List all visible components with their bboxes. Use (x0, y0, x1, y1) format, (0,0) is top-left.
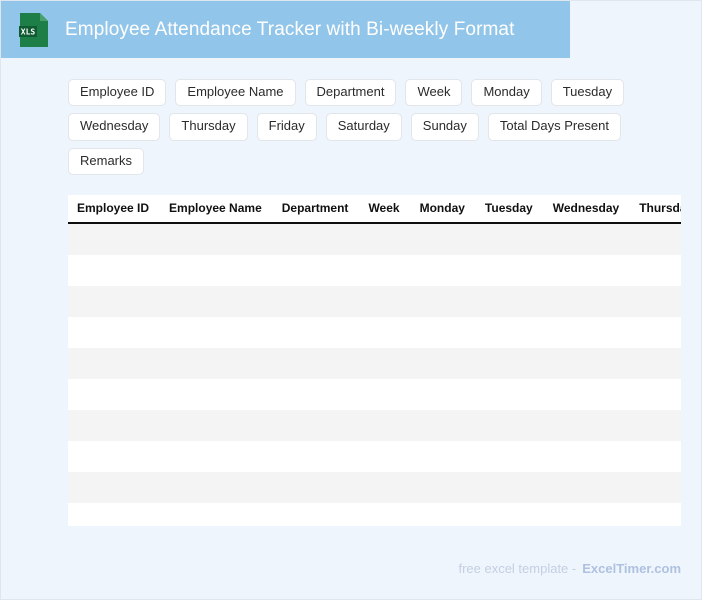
table-cell[interactable] (410, 223, 475, 255)
table-row[interactable] (68, 410, 681, 441)
table-cell[interactable] (410, 255, 475, 286)
table-cell[interactable] (272, 410, 359, 441)
table-cell[interactable] (272, 441, 359, 472)
field-chip[interactable]: Remarks (68, 148, 144, 175)
table-row[interactable] (68, 317, 681, 348)
table-cell[interactable] (358, 255, 409, 286)
table-cell[interactable] (272, 286, 359, 317)
attendance-table: Employee IDEmployee NameDepartmentWeekMo… (68, 195, 681, 526)
table-cell[interactable] (68, 286, 159, 317)
table-cell[interactable] (475, 223, 543, 255)
table-cell[interactable] (629, 410, 681, 441)
table-cell[interactable] (410, 379, 475, 410)
field-chip[interactable]: Employee ID (68, 79, 166, 106)
table-cell[interactable] (272, 255, 359, 286)
field-chip[interactable]: Saturday (326, 113, 402, 140)
table-cell[interactable] (543, 255, 629, 286)
field-chip[interactable]: Total Days Present (488, 113, 621, 140)
footer-brand-link[interactable]: ExcelTimer.com (582, 561, 681, 576)
table-cell[interactable] (68, 441, 159, 472)
column-header[interactable]: Wednesday (543, 195, 629, 223)
table-cell[interactable] (272, 472, 359, 503)
table-cell[interactable] (272, 379, 359, 410)
table-cell[interactable] (475, 503, 543, 526)
table-cell[interactable] (272, 503, 359, 526)
table-cell[interactable] (410, 410, 475, 441)
table-cell[interactable] (358, 472, 409, 503)
table-cell[interactable] (629, 223, 681, 255)
field-chip[interactable]: Thursday (169, 113, 247, 140)
table-row[interactable] (68, 286, 681, 317)
table-row[interactable] (68, 503, 681, 526)
table-cell[interactable] (410, 348, 475, 379)
table-cell[interactable] (159, 348, 272, 379)
table-cell[interactable] (475, 255, 543, 286)
table-cell[interactable] (629, 503, 681, 526)
column-header[interactable]: Department (272, 195, 359, 223)
table-cell[interactable] (159, 410, 272, 441)
table-cell[interactable] (543, 379, 629, 410)
table-cell[interactable] (159, 472, 272, 503)
table-cell[interactable] (159, 286, 272, 317)
field-chip[interactable]: Wednesday (68, 113, 160, 140)
table-cell[interactable] (543, 317, 629, 348)
table-cell[interactable] (358, 441, 409, 472)
field-chip-list: Employee IDEmployee NameDepartmentWeekMo… (68, 79, 643, 175)
page-title: Employee Attendance Tracker with Bi-week… (65, 20, 514, 39)
table-cell[interactable] (543, 503, 629, 526)
table-cell[interactable] (543, 286, 629, 317)
table-cell[interactable] (629, 379, 681, 410)
table-cell[interactable] (475, 317, 543, 348)
field-chip[interactable]: Friday (257, 113, 317, 140)
table-cell[interactable] (358, 503, 409, 526)
table-cell[interactable] (410, 317, 475, 348)
xls-file-icon: XLS (19, 12, 49, 48)
page-header: XLS Employee Attendance Tracker with Bi-… (1, 1, 570, 58)
table-cell[interactable] (68, 255, 159, 286)
table-cell[interactable] (410, 441, 475, 472)
table-cell[interactable] (159, 317, 272, 348)
table-row[interactable] (68, 472, 681, 503)
column-header[interactable]: Employee Name (159, 195, 272, 223)
field-chip[interactable]: Monday (471, 79, 541, 106)
table-cell[interactable] (68, 379, 159, 410)
page-root: XLS Employee Attendance Tracker with Bi-… (0, 0, 702, 600)
table-cell[interactable] (159, 255, 272, 286)
table-cell[interactable] (159, 441, 272, 472)
column-header[interactable]: Thursday (629, 195, 681, 223)
table-cell[interactable] (543, 223, 629, 255)
table-cell[interactable] (629, 286, 681, 317)
table-cell[interactable] (358, 348, 409, 379)
table-cell[interactable] (475, 441, 543, 472)
table-cell[interactable] (358, 223, 409, 255)
table-cell[interactable] (629, 317, 681, 348)
column-header[interactable]: Week (358, 195, 409, 223)
table-cell[interactable] (543, 410, 629, 441)
attendance-table-container[interactable]: Employee IDEmployee NameDepartmentWeekMo… (68, 195, 681, 526)
table-cell[interactable] (272, 348, 359, 379)
table-cell[interactable] (475, 286, 543, 317)
table-header: Employee IDEmployee NameDepartmentWeekMo… (68, 195, 681, 223)
table-cell[interactable] (68, 223, 159, 255)
table-cell[interactable] (629, 348, 681, 379)
table-cell[interactable] (629, 472, 681, 503)
table-cell[interactable] (68, 348, 159, 379)
column-header[interactable]: Monday (410, 195, 475, 223)
table-cell[interactable] (358, 286, 409, 317)
table-row[interactable] (68, 348, 681, 379)
table-row[interactable] (68, 441, 681, 472)
footer-lead-text: free excel template - (458, 561, 576, 576)
field-chip[interactable]: Department (305, 79, 397, 106)
table-cell[interactable] (410, 472, 475, 503)
field-chip[interactable]: Tuesday (551, 79, 624, 106)
table-cell[interactable] (272, 223, 359, 255)
table-cell[interactable] (629, 255, 681, 286)
table-cell[interactable] (410, 503, 475, 526)
table-body (68, 223, 681, 526)
table-cell[interactable] (475, 472, 543, 503)
field-chip[interactable]: Sunday (411, 113, 479, 140)
table-cell[interactable] (475, 379, 543, 410)
field-chip[interactable]: Week (405, 79, 462, 106)
table-cell[interactable] (475, 410, 543, 441)
table-cell[interactable] (543, 472, 629, 503)
table-cell[interactable] (543, 441, 629, 472)
column-header[interactable]: Tuesday (475, 195, 543, 223)
table-row[interactable] (68, 255, 681, 286)
table-cell[interactable] (68, 317, 159, 348)
table-cell[interactable] (629, 441, 681, 472)
table-cell[interactable] (159, 223, 272, 255)
table-cell[interactable] (358, 410, 409, 441)
table-cell[interactable] (475, 348, 543, 379)
table-cell[interactable] (68, 472, 159, 503)
table-cell[interactable] (358, 317, 409, 348)
table-cell[interactable] (159, 379, 272, 410)
table-cell[interactable] (159, 503, 272, 526)
table-header-row: Employee IDEmployee NameDepartmentWeekMo… (68, 195, 681, 223)
footer-credit: free excel template -ExcelTimer.com (458, 562, 681, 575)
table-cell[interactable] (543, 348, 629, 379)
table-cell[interactable] (68, 503, 159, 526)
table-row[interactable] (68, 379, 681, 410)
table-cell[interactable] (272, 317, 359, 348)
svg-text:XLS: XLS (21, 27, 36, 36)
table-row[interactable] (68, 223, 681, 255)
field-chip[interactable]: Employee Name (175, 79, 295, 106)
table-cell[interactable] (68, 410, 159, 441)
table-cell[interactable] (358, 379, 409, 410)
table-cell[interactable] (410, 286, 475, 317)
column-header[interactable]: Employee ID (68, 195, 159, 223)
